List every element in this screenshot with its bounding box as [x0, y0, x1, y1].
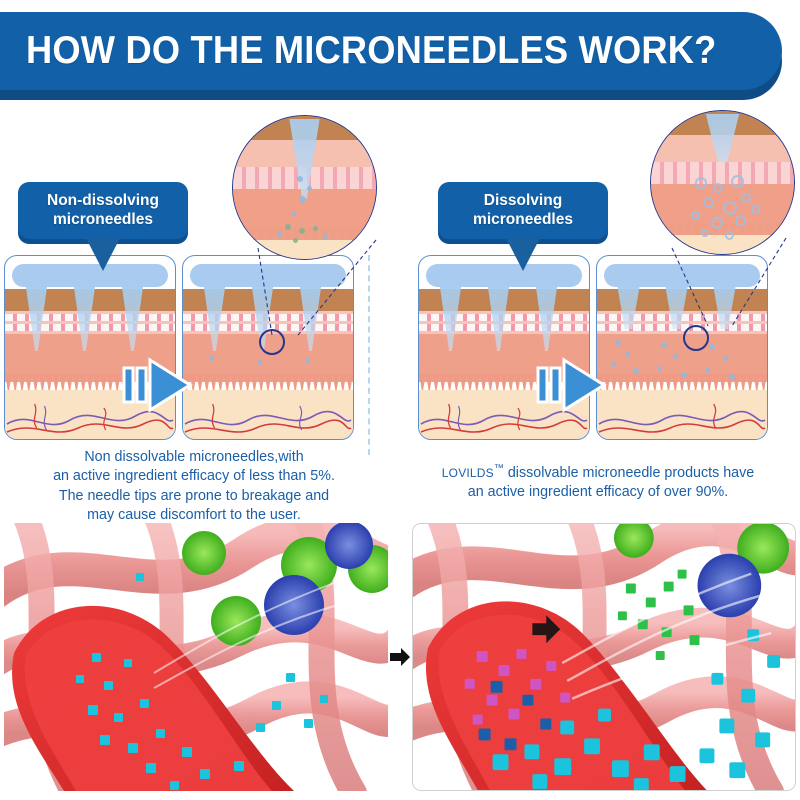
- particle-ring: [711, 217, 723, 229]
- magnifier-content: [233, 116, 376, 259]
- badge-dissolving-label: Dissolving microneedles: [473, 192, 573, 230]
- badge-non-dissolving: Non-dissolving microneedles: [18, 182, 188, 239]
- caption-line-1: LOVILDS™ dissolvable microneedle product…: [404, 462, 792, 483]
- photo-right-illustration: [413, 524, 795, 790]
- particle: [633, 368, 639, 374]
- particle: [615, 340, 621, 346]
- badge-line-2: microneedles: [53, 211, 153, 228]
- particle: [611, 362, 616, 367]
- magnifier-dissolving: [650, 110, 795, 255]
- particle-ring: [735, 215, 746, 226]
- particle-ring: [741, 193, 751, 203]
- blue-process-arrow-left: [120, 348, 194, 422]
- particle: [209, 356, 214, 361]
- particle: [285, 224, 291, 230]
- blue-process-arrow-right: [534, 348, 608, 422]
- magnifier-content: [651, 111, 794, 254]
- badge-non-dissolving-label: Non-dissolving microneedles: [47, 192, 159, 230]
- caption-line-1: Non dissolvable microneedles,with: [12, 448, 376, 467]
- magnifier-non-dissolving: [232, 115, 377, 260]
- particle: [297, 176, 303, 182]
- hypodermis-layer: [233, 240, 376, 259]
- caption-line-1-rest: dissolvable microneedle products have: [504, 465, 754, 481]
- caption-line-3: The needle tips are prone to breakage an…: [12, 487, 376, 506]
- particle: [299, 228, 305, 234]
- particle: [307, 186, 312, 191]
- particle: [299, 196, 306, 203]
- particle: [313, 226, 318, 231]
- particle: [673, 354, 678, 359]
- badge-dissolving: Dissolving microneedles: [438, 182, 608, 239]
- caption-line-2: an active ingredient efficacy of over 90…: [404, 483, 792, 502]
- badge-tail: [506, 238, 540, 271]
- transition-arrow-icon: [388, 645, 412, 669]
- particle-ring: [691, 211, 700, 220]
- particle-ring: [751, 205, 760, 214]
- particle: [625, 352, 630, 357]
- caption-dissolving: LOVILDS™ dissolvable microneedle product…: [404, 462, 792, 503]
- photo-left-illustration: [4, 523, 388, 791]
- caption-line-2: an active ingredient efficacy of less th…: [12, 467, 376, 486]
- particle-ring: [723, 201, 737, 215]
- badge-line-1: Non-dissolving: [47, 192, 159, 209]
- trademark-symbol: ™: [494, 463, 504, 474]
- arrow-right-icon: [388, 645, 412, 669]
- badge-line-2: microneedles: [473, 211, 573, 228]
- badge-line-1: Dissolving: [484, 192, 562, 209]
- photo-blood-vessels-after: [412, 523, 796, 791]
- cell-band-layer: [651, 162, 794, 183]
- hypodermis-layer: [651, 235, 794, 254]
- banner-body: HOW DO THE MICRONEEDLES WORK?: [0, 12, 782, 90]
- particle-ring: [701, 229, 709, 237]
- particle-ring: [713, 183, 723, 193]
- particle: [291, 211, 296, 216]
- particle: [723, 356, 728, 361]
- caption-non-dissolving: Non dissolvable microneedles,with an act…: [12, 448, 376, 526]
- infographic-page: HOW DO THE MICRONEEDLES WORK? Non-dissol…: [0, 0, 800, 800]
- header-banner: HOW DO THE MICRONEEDLES WORK?: [0, 12, 800, 100]
- patch-layer: [426, 264, 582, 287]
- badge-tail: [86, 238, 120, 271]
- blood-vessels: [183, 390, 353, 440]
- particle: [293, 238, 298, 243]
- particle: [681, 372, 687, 378]
- blood-vessels: [597, 390, 767, 440]
- magnifier-focus-marker-left: [259, 329, 285, 355]
- particle: [657, 366, 662, 371]
- page-title: HOW DO THE MICRONEEDLES WORK?: [26, 29, 716, 73]
- particle: [305, 358, 310, 363]
- photo-blood-vessels-before: [4, 523, 388, 791]
- particle-ring: [695, 177, 707, 189]
- particle: [729, 374, 735, 380]
- magnifier-focus-marker-right: [683, 325, 709, 351]
- particle: [323, 234, 328, 239]
- particle: [257, 360, 262, 365]
- particle: [277, 232, 282, 237]
- particle-ring: [703, 197, 714, 208]
- particle-ring: [731, 175, 744, 188]
- brand-name: LOVILDS: [442, 466, 494, 480]
- particle: [705, 368, 710, 373]
- particle-ring: [725, 231, 734, 240]
